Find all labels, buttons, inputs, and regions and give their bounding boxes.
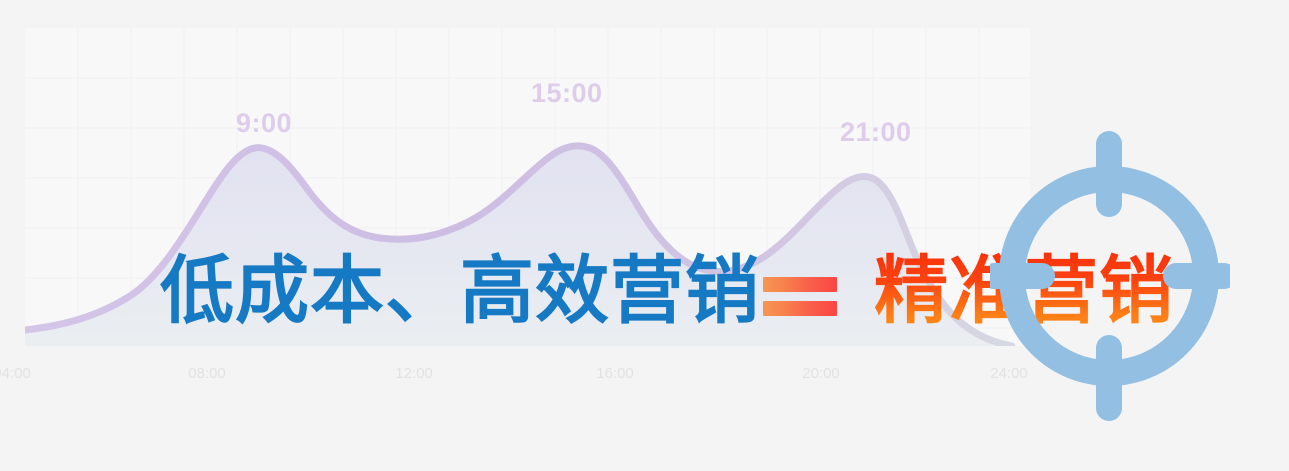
equals-bar-bottom <box>763 301 837 316</box>
axis-tick-0400: 04:00 <box>0 365 31 382</box>
axis-tick-0800: 08:00 <box>188 365 226 382</box>
axis-tick-1200: 12:00 <box>395 365 433 382</box>
axis-tick-1600: 16:00 <box>596 365 634 382</box>
axis-tick-2000: 20:00 <box>802 365 840 382</box>
equals-sign-icon <box>763 277 837 316</box>
target-crosshair-icon <box>990 126 1230 426</box>
peak-label-15: 15:00 <box>531 78 603 109</box>
headline-primary: 低成本、高效营销 <box>160 248 760 334</box>
equals-bar-top <box>763 277 837 292</box>
peak-label-9: 9:00 <box>236 108 292 139</box>
banner-canvas: 9:00 15:00 21:00 04:00 08:00 12:00 16:00… <box>0 0 1289 471</box>
peak-label-21: 21:00 <box>840 117 912 148</box>
